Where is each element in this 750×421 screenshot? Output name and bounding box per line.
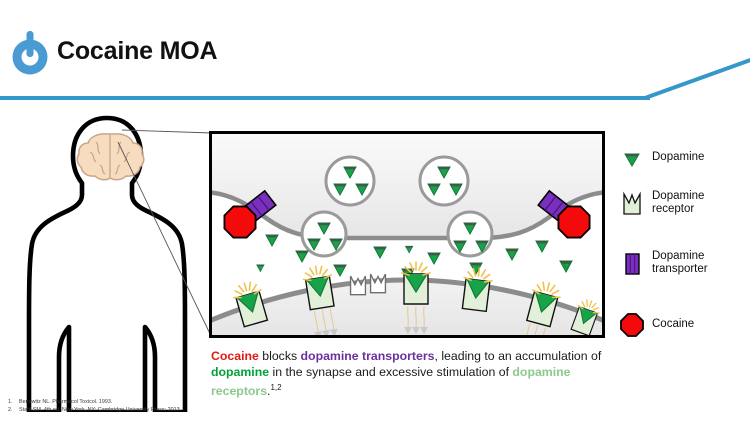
cocaine-octagon-icon xyxy=(618,311,646,339)
cocaine-molecule-right xyxy=(558,206,589,237)
caption-text: Cocaine blocks dopamine transporters, le… xyxy=(211,349,611,400)
caption-text-2: , leading to an accumulation of xyxy=(434,349,601,363)
dopamine-receptor-icon xyxy=(618,189,646,217)
legend-item-cocaine: Cocaine xyxy=(618,311,694,339)
header-rule-horizontal xyxy=(0,96,650,100)
reference-number: 2. xyxy=(8,407,19,415)
reference-text: Stahl SM. 4th ed. New York, NY: Cambridg… xyxy=(19,407,181,415)
reference-number: 1. xyxy=(8,399,19,407)
reference-item: 1. Benowitz NL. Pharmacol Toxicol. 1993. xyxy=(8,399,348,407)
caption-cocaine: Cocaine xyxy=(211,349,259,363)
caption-text-3: in the synapse and excessive stimulation… xyxy=(269,365,512,379)
caption-superscript: 1,2 xyxy=(270,383,281,392)
reference-text: Benowitz NL. Pharmacol Toxicol. 1993. xyxy=(19,399,112,407)
page-title: Cocaine MOA xyxy=(57,37,217,66)
legend-label: Dopamine transporter xyxy=(652,250,708,277)
caption-transporters: dopamine transporters xyxy=(301,349,435,363)
legend: Dopamine Dopamine receptor Dopamine tran… xyxy=(618,144,750,339)
legend-item-dopamine-receptor: Dopamine receptor xyxy=(618,189,704,217)
legend-item-dopamine: Dopamine xyxy=(618,144,704,172)
cocaine-molecule-left xyxy=(224,206,255,237)
references-list: 1. Benowitz NL. Pharmacol Toxicol. 1993.… xyxy=(8,399,348,414)
synapse-illustration xyxy=(212,134,602,335)
caption-dopamine: dopamine xyxy=(211,365,269,379)
legend-label: Dopamine xyxy=(652,151,704,165)
power-button-logo xyxy=(7,29,53,77)
dopamine-transporter-icon xyxy=(618,249,646,277)
caption-text-1: blocks xyxy=(259,349,301,363)
synapse-diagram xyxy=(209,131,605,338)
legend-label: Dopamine receptor xyxy=(652,190,704,217)
legend-item-dopamine-transporter: Dopamine transporter xyxy=(618,249,708,277)
reference-item: 2. Stahl SM. 4th ed. New York, NY: Cambr… xyxy=(8,407,348,415)
dopamine-triangle-icon xyxy=(618,144,646,172)
slide-header: Cocaine MOA xyxy=(0,0,750,104)
legend-label: Cocaine xyxy=(652,318,694,332)
header-rule-diagonal xyxy=(645,56,750,100)
